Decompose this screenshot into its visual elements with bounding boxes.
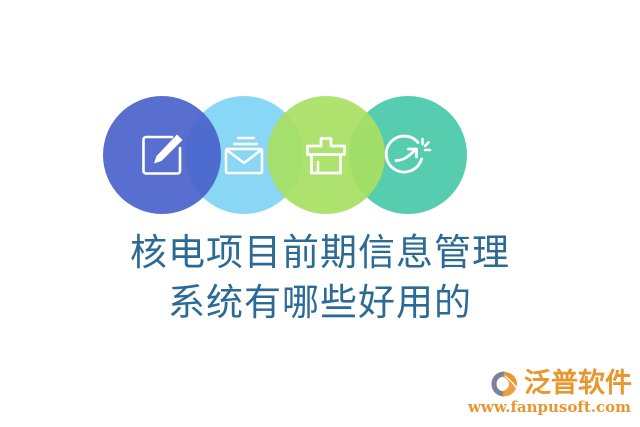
fanpu-logo-mark-icon [490, 369, 520, 399]
edit-square-icon [136, 129, 188, 181]
promo-banner: 核电项目前期信息管理 系统有哪些好用的 泛普软件 www.fanpusoft.c… [0, 0, 640, 427]
banner-headline: 核电项目前期信息管理 系统有哪些好用的 [0, 228, 640, 328]
brand-watermark: 泛普软件 www.fanpusoft.com [468, 369, 632, 415]
brand-lockup: 泛普软件 [490, 369, 632, 399]
headline-line-1: 核电项目前期信息管理 [0, 228, 640, 278]
brand-name: 泛普软件 [524, 369, 632, 399]
envelope-mail-icon [218, 129, 270, 181]
store-shop-icon [300, 129, 352, 181]
circle-node-edit [103, 96, 221, 214]
growth-arrow-circle-icon [382, 129, 434, 181]
headline-line-2: 系统有哪些好用的 [0, 278, 640, 328]
brand-url: www.fanpusoft.com [468, 400, 631, 415]
icon-cluster [0, 96, 640, 216]
circle-node-store [267, 96, 385, 214]
